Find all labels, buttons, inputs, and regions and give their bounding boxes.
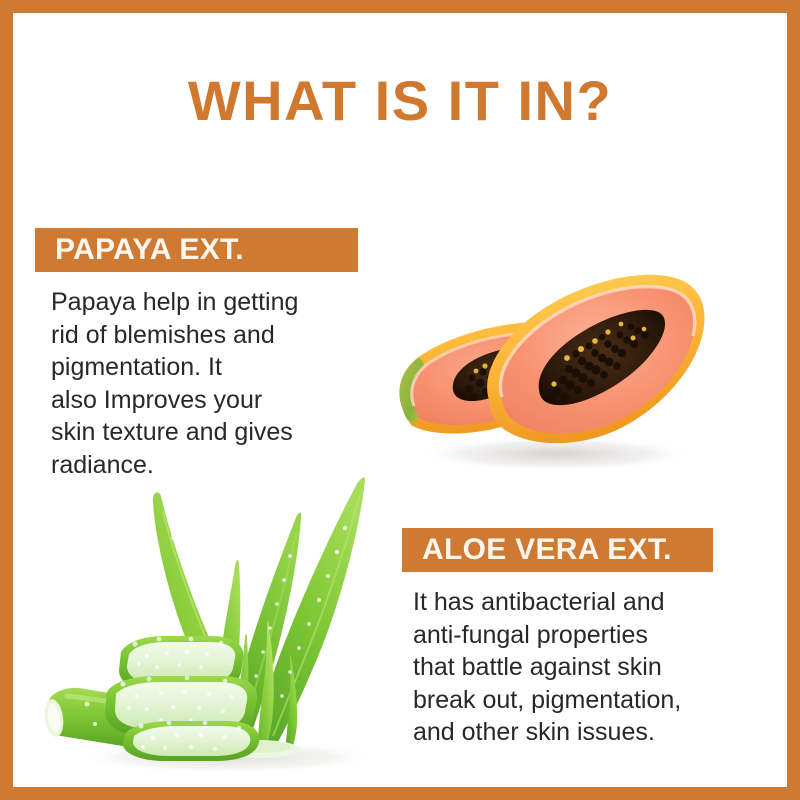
- section-banner-papaya: PAPAYA EXT.: [35, 228, 358, 272]
- papaya-half-front: [487, 275, 704, 443]
- section-body-aloe: It has antibacterial and anti-fungal pro…: [413, 586, 743, 749]
- section-banner-aloe: ALOE VERA EXT.: [402, 528, 713, 572]
- page-title: WHAT IS IT IN?: [13, 71, 787, 131]
- infographic-frame: WHAT IS IT IN? PAPAYA EXT. Papaya help i…: [0, 0, 800, 800]
- infographic-canvas: WHAT IS IT IN? PAPAYA EXT. Papaya help i…: [13, 13, 787, 787]
- papaya-image: [381, 250, 721, 480]
- aloe-slice-bottom: [123, 721, 259, 761]
- section-body-papaya: Papaya help in getting rid of blemishes …: [51, 286, 381, 481]
- aloe-vera-image: [43, 468, 403, 787]
